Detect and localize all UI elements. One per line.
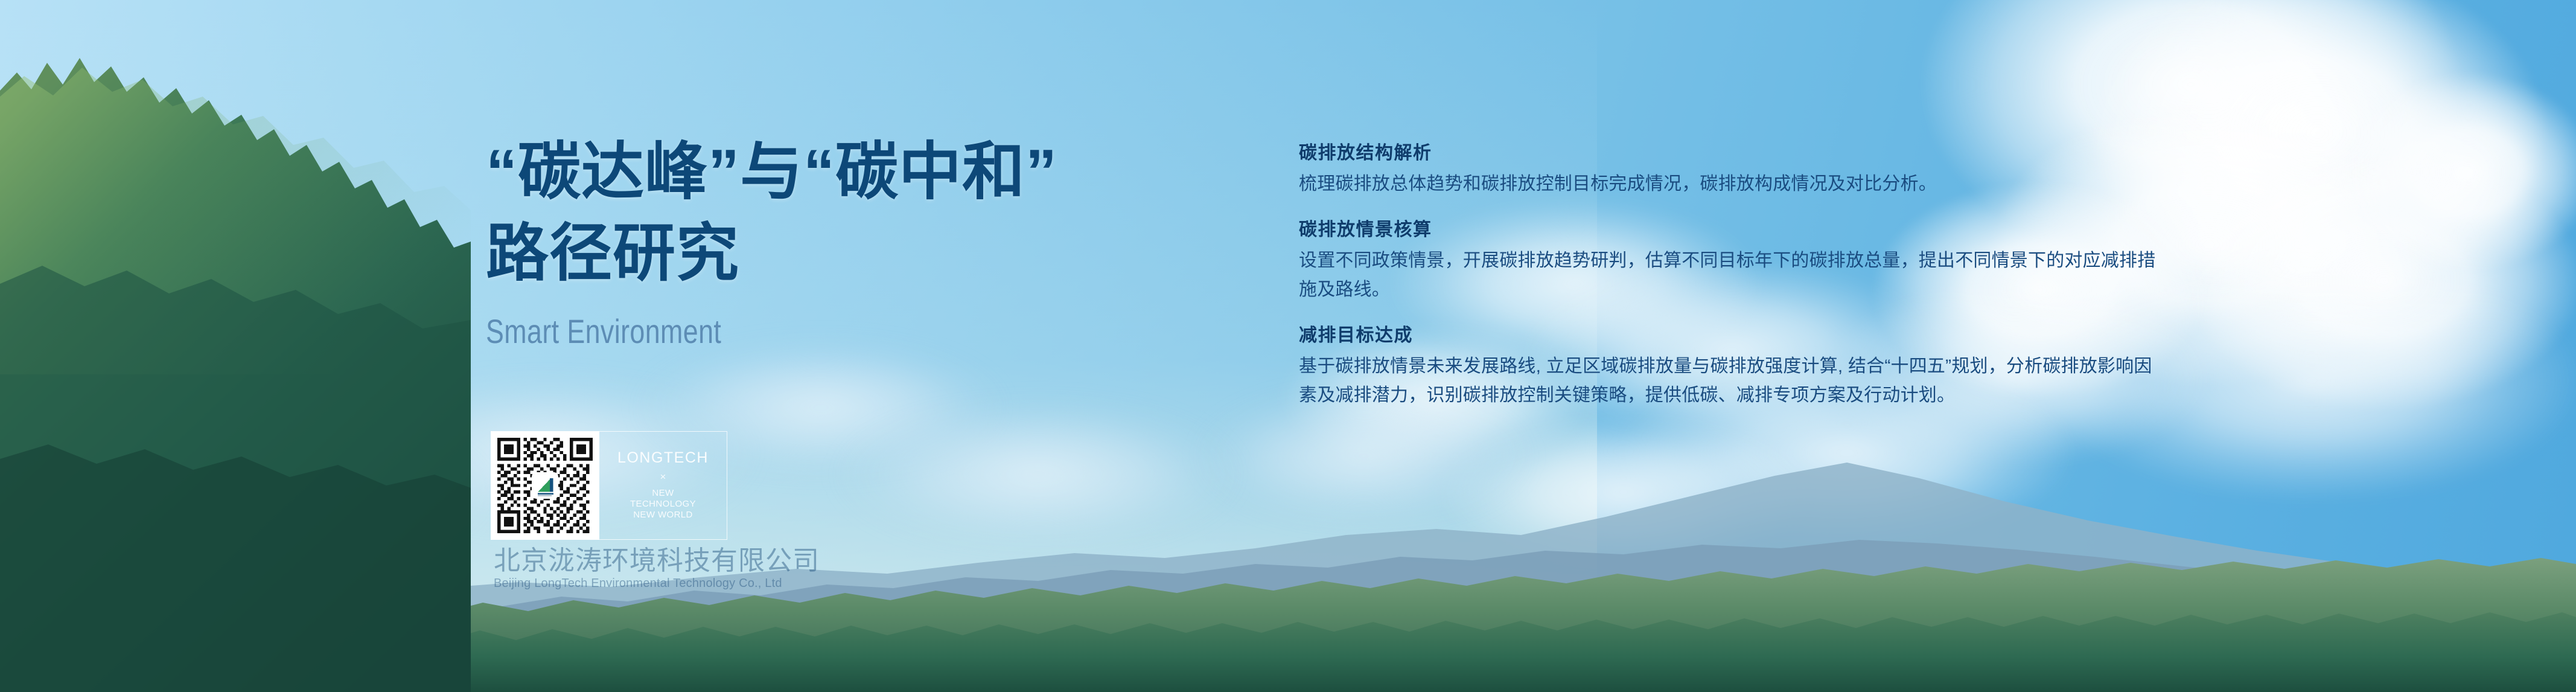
watermark-card: LONGTECH × NEW TECHNOLOGY NEW WORLD: [491, 431, 727, 540]
banner-hero: “碳达峰”与“碳中和” 路径研究 Smart Environment: [0, 0, 2576, 692]
left-forest-hillside: [0, 0, 471, 692]
title-block: “碳达峰”与“碳中和” 路径研究 Smart Environment: [486, 132, 1198, 351]
section-body: 设置不同政策情景，开展碳排放趋势研判，估算不同目标年下的碳排放总量，提出不同情景…: [1299, 246, 2168, 304]
feature-section: 碳排放结构解析 梳理碳排放总体趋势和碳排放控制目标完成情况，碳排放构成情况及对比…: [1299, 143, 2168, 199]
section-heading: 减排目标达成: [1299, 325, 2168, 347]
qr-code-svg: [497, 438, 593, 533]
section-body: 梳理碳排放总体趋势和碳排放控制目标完成情况，碳排放构成情况及对比分析。: [1299, 170, 2168, 199]
page-subtitle: Smart Environment: [486, 312, 1056, 351]
longtech-brand-panel: LONGTECH × NEW TECHNOLOGY NEW WORLD: [599, 431, 727, 540]
feature-section: 减排目标达成 基于碳排放情景未来发展路线, 立足区域碳排放量与碳排放强度计算, …: [1299, 325, 2168, 410]
section-heading: 碳排放情景核算: [1299, 219, 2168, 241]
cross-icon: ×: [660, 472, 666, 482]
page-title: “碳达峰”与“碳中和” 路径研究: [486, 132, 1198, 295]
feature-sections: 碳排放结构解析 梳理碳排放总体趋势和碳排放控制目标完成情况，碳排放构成情况及对比…: [1299, 143, 2168, 410]
longtech-tagline: NEW TECHNOLOGY NEW WORLD: [630, 488, 696, 520]
qr-code-icon[interactable]: [491, 431, 599, 540]
longtech-brand-name: LONGTECH: [617, 450, 709, 466]
section-heading: 碳排放结构解析: [1299, 143, 2168, 164]
section-body: 基于碳排放情景未来发展路线, 立足区域碳排放量与碳排放强度计算, 结合“十四五”…: [1299, 352, 2168, 410]
feature-section: 碳排放情景核算 设置不同政策情景，开展碳排放趋势研判，估算不同目标年下的碳排放总…: [1299, 219, 2168, 304]
